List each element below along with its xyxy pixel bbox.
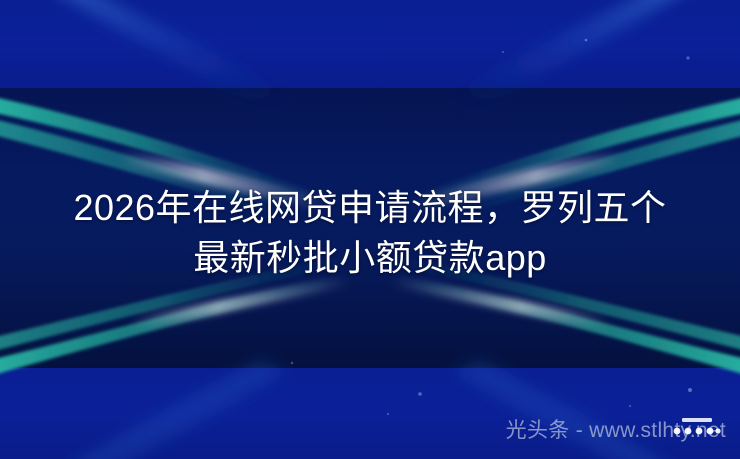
promo-banner: 2026年在线网贷申请流程，罗列五个 最新秒批小额贷款app 光头条 - www… <box>0 0 740 459</box>
bar-and-dots-logo-icon <box>668 415 724 441</box>
background-band-top <box>0 0 740 88</box>
page-title: 2026年在线网贷申请流程，罗列五个 最新秒批小额贷款app <box>0 183 740 283</box>
watermark: 光头条 - www.stlhty.net <box>506 415 726 447</box>
